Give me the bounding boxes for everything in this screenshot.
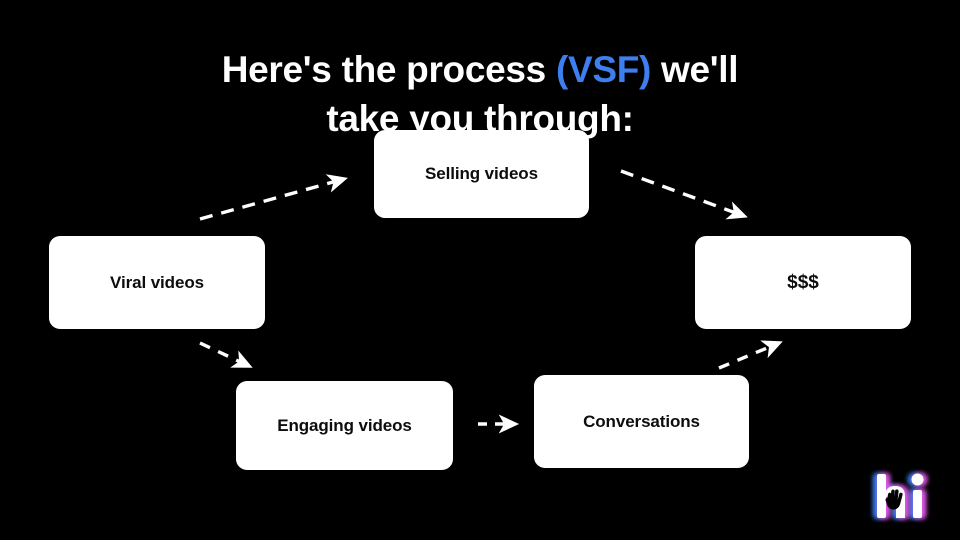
arrow-selling-to-money <box>621 171 744 216</box>
flow-node-conversations[interactable]: Conversations <box>534 375 749 468</box>
flow-node-money[interactable]: $$$ <box>695 236 911 329</box>
flow-node-viral-videos[interactable]: Viral videos <box>49 236 265 329</box>
page-title: Here's the process (VSF) we'lltake you t… <box>0 45 960 143</box>
flow-node-engaging-videos[interactable]: Engaging videos <box>236 381 453 470</box>
title-accent-vsf: (VSF) <box>556 49 651 90</box>
arrow-conversations-to-money <box>719 343 779 368</box>
flow-node-label: Selling videos <box>425 164 538 184</box>
arrow-viral-to-selling <box>200 179 344 219</box>
hi-logo[interactable] <box>868 468 938 526</box>
flow-node-label: Engaging videos <box>277 416 412 436</box>
flow-node-label: Viral videos <box>110 273 204 293</box>
title-line1-before: Here's the process <box>222 49 556 90</box>
flow-node-label: $$$ <box>787 272 819 294</box>
slide-canvas: Here's the process (VSF) we'lltake you t… <box>0 0 960 540</box>
title-line1-after: we'll <box>651 49 738 90</box>
flow-node-selling-videos[interactable]: Selling videos <box>374 130 589 218</box>
flow-node-label: Conversations <box>583 412 700 432</box>
arrow-viral-to-engaging <box>200 343 249 366</box>
